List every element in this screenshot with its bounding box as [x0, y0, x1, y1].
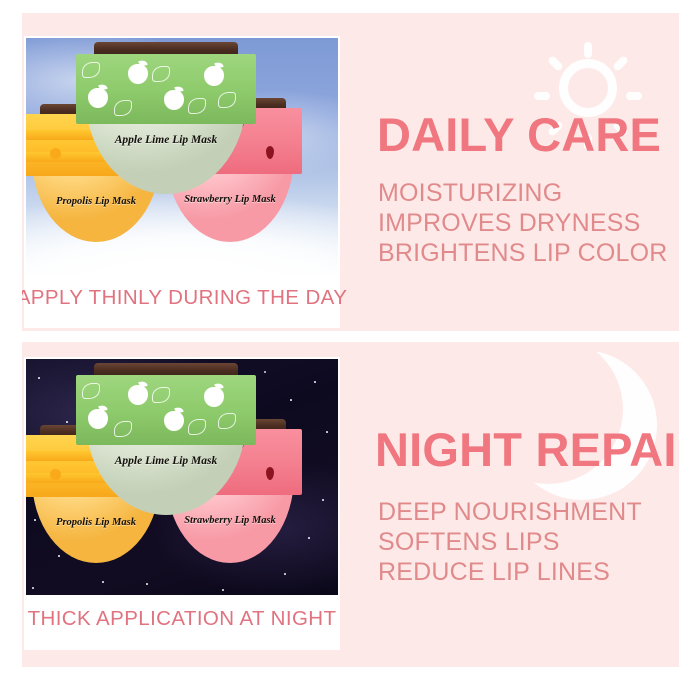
jar-name-propolis: Propolis Lip Mask: [32, 517, 160, 528]
jar-name-apple-lime: Apple Lime Lip Mask: [86, 455, 246, 467]
caption-text-night: THICK APPLICATION AT NIGHT: [28, 607, 337, 631]
panel-daily-care: Propolis Lip Mask Strawberry Lip Mask: [22, 13, 679, 331]
panel-night-repair: Propolis Lip Mask Strawberry Lip Mask: [22, 342, 679, 667]
product-photo-frame-night: Propolis Lip Mask Strawberry Lip Mask: [24, 357, 340, 650]
product-infographic: Propolis Lip Mask Strawberry Lip Mask: [0, 0, 679, 679]
benefit-item: REDUCE LIP LINES: [378, 557, 642, 587]
benefit-item: MOISTURIZING: [378, 178, 668, 208]
jar-label-band-apple-lime: [76, 54, 255, 124]
jar-apple-lime-night: Apple Lime Lip Mask: [86, 367, 246, 515]
product-photo-day: Propolis Lip Mask Strawberry Lip Mask: [26, 38, 338, 274]
text-column-night: NIGHT REPAIR DEEP NOURISHMENT SOFTENS LI…: [355, 342, 679, 667]
headline-night-repair: NIGHT REPAIR: [375, 422, 679, 477]
headline-daily-care: DAILY CARE: [377, 107, 661, 162]
benefit-list-day: MOISTURIZING IMPROVES DRYNESS BRIGHTENS …: [378, 178, 668, 268]
jar-name-strawberry: Strawberry Lip Mask: [166, 515, 294, 526]
jar-group-night: Propolis Lip Mask Strawberry Lip Mask: [26, 359, 338, 595]
product-photo-night: Propolis Lip Mask Strawberry Lip Mask: [26, 359, 338, 595]
benefit-item: IMPROVES DRYNESS: [378, 208, 668, 238]
benefit-item: BRIGHTENS LIP COLOR: [378, 238, 668, 268]
jar-name-apple-lime: Apple Lime Lip Mask: [86, 134, 246, 146]
jar-label-band-apple-lime: [76, 375, 255, 445]
jar-name-strawberry: Strawberry Lip Mask: [166, 194, 294, 205]
jar-name-propolis: Propolis Lip Mask: [32, 196, 160, 207]
jar-apple-lime-day: Apple Lime Lip Mask: [86, 46, 246, 194]
caption-band-night: THICK APPLICATION AT NIGHT: [26, 595, 338, 643]
text-column-day: DAILY CARE MOISTURIZING IMPROVES DRYNESS…: [355, 13, 679, 331]
jar-group-day: Propolis Lip Mask Strawberry Lip Mask: [26, 38, 338, 274]
benefit-item: SOFTENS LIPS: [378, 527, 642, 557]
benefit-list-night: DEEP NOURISHMENT SOFTENS LIPS REDUCE LIP…: [378, 497, 642, 587]
product-photo-frame-day: Propolis Lip Mask Strawberry Lip Mask: [24, 36, 340, 328]
caption-text-day: APPLY THINLY DURING THE DAY: [22, 286, 347, 310]
benefit-item: DEEP NOURISHMENT: [378, 497, 642, 527]
caption-band-day: APPLY THINLY DURING THE DAY: [26, 274, 338, 322]
